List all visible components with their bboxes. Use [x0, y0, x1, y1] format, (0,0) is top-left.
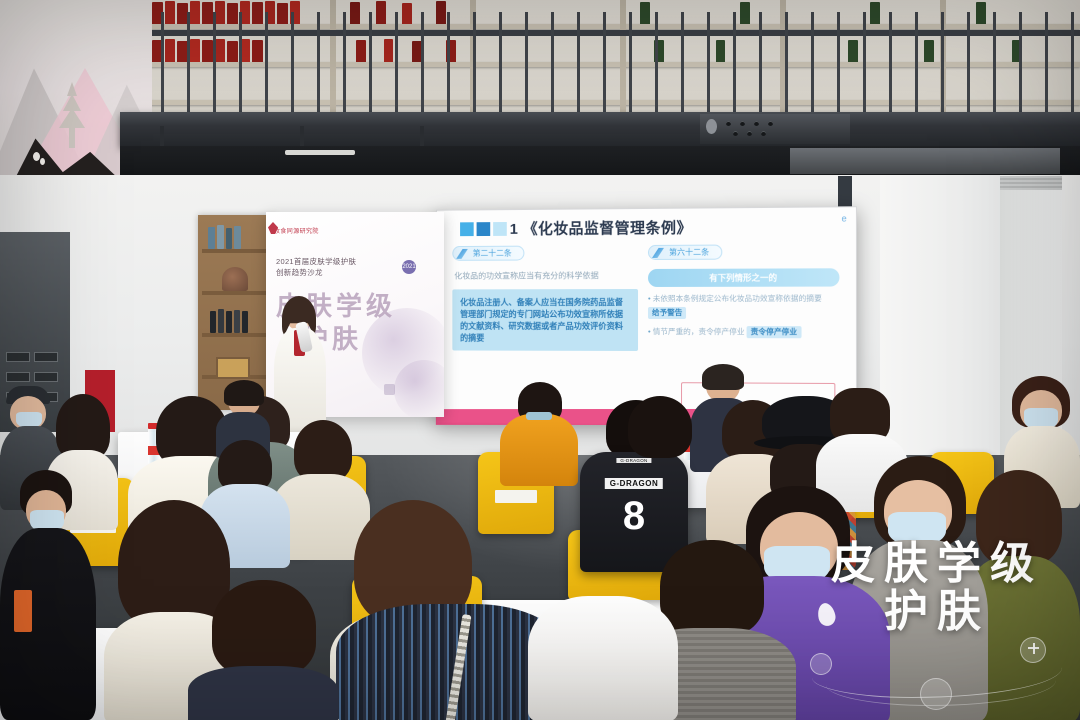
slide-bullet-2-tag: 责令停产停业 — [747, 326, 802, 338]
beam-bolt-plate — [700, 114, 850, 144]
title-square-3 — [493, 222, 507, 236]
slide-bullet-1-text: 未依照本条例规定公布化妆品功效宣称依据的摘要 — [653, 294, 822, 303]
attendee-navy-front-left — [188, 580, 338, 720]
slide-bullet-2: • 情节严重的，责令停产停业 责令停产停业 — [648, 326, 839, 338]
steel-beam — [120, 112, 1080, 146]
slide-corner-logo: e — [842, 213, 848, 223]
slide-right-section-tag: 第六十二条 — [648, 245, 722, 260]
slide-left-paragraph: 化妆品的功效宣称应当有充分的科学依据 — [454, 270, 636, 282]
pine-tree-icon — [58, 82, 86, 154]
shelf-frame — [216, 357, 250, 379]
banner-logo: 妆食同源研究院 — [274, 226, 319, 235]
title-square-2 — [477, 222, 491, 236]
slide-left-section-tag: 第二十二条 — [452, 246, 524, 261]
ac-vent — [1000, 176, 1062, 190]
banner-badge: 2021 — [402, 260, 416, 274]
attendee-white-shirt-front — [528, 596, 678, 720]
banner-seal-icon — [384, 384, 395, 395]
slide-bullet-1-tag: 给予警告 — [648, 307, 686, 319]
watermark: 皮肤学级 护肤 — [802, 541, 1072, 716]
shelf-plant — [222, 267, 248, 291]
attendee-mid-right-dark — [612, 396, 708, 526]
slide-right-pill-header: 有下列情形之一的 — [648, 268, 839, 287]
attendee-masked-young — [0, 470, 96, 720]
title-square-1 — [460, 222, 474, 236]
slide-title: 1 《化妆品监督管理条例》 — [510, 217, 692, 239]
slide-bullet-2-text: 情节严重的，责令停产停业 — [653, 327, 745, 336]
seminar-photo: 1 《化妆品监督管理条例》 e 第二十二条 化妆品的功效宣称应当有充分的科学依据… — [0, 0, 1080, 720]
watermark-line-2: 护肤 — [802, 587, 1072, 638]
watermark-seal-icon — [920, 678, 952, 710]
ceiling-light-strip — [285, 150, 355, 155]
slide-bullet-1: • 未依照本条例规定公布化妆品功效宣称依据的摘要 给予警告 — [648, 294, 839, 319]
ceiling-duct — [790, 148, 1060, 174]
slide-left-highlight-box: 化妆品注册人、备案人应当在国务院药品监督管理部门规定的专门网站公布功效宣称所依据… — [452, 289, 638, 351]
watermark-line-1: 皮肤学级 — [802, 541, 1072, 587]
attendee-orange-knit — [500, 382, 578, 482]
